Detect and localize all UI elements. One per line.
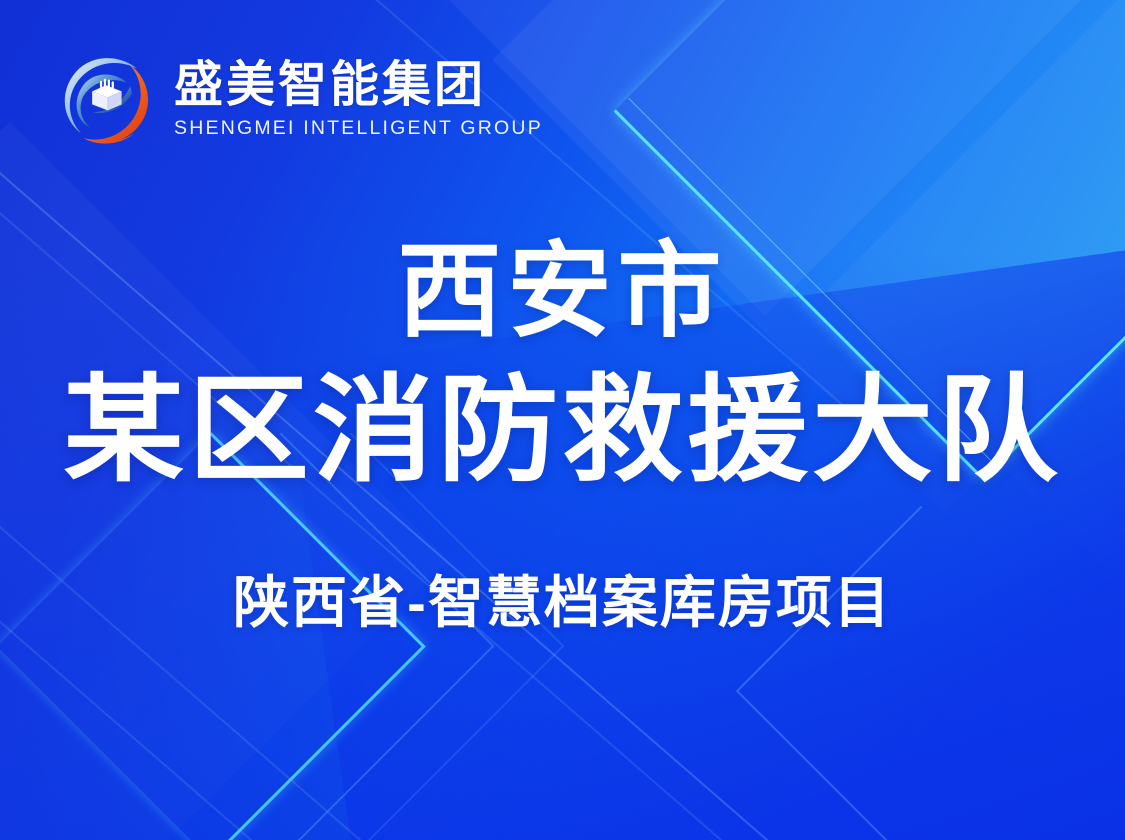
- cover-project-line: 陕西省-智慧档案库房项目: [0, 572, 1125, 634]
- diagonal-hairline: [0, 690, 431, 840]
- cover-city-line: 西安市: [0, 236, 1125, 348]
- brand-logo-lockup: 盛美智能集团 SHENGMEI INTELLIGENT GROUP: [54, 48, 543, 152]
- brand-name-cn: 盛美智能集团: [174, 60, 543, 112]
- cover-poster: 盛美智能集团 SHENGMEI INTELLIGENT GROUP 西安市 某区…: [0, 0, 1125, 840]
- diagonal-hairline: [0, 600, 471, 840]
- shengmei-logo-icon: [54, 48, 158, 152]
- brand-wordmark: 盛美智能集团 SHENGMEI INTELLIGENT GROUP: [174, 60, 543, 140]
- cover-unit-line: 某区消防救援大队: [0, 366, 1125, 496]
- cover-headline: 西安市 某区消防救援大队 陕西省-智慧档案库房项目: [0, 236, 1125, 634]
- brand-name-en: SHENGMEI INTELLIGENT GROUP: [174, 117, 543, 140]
